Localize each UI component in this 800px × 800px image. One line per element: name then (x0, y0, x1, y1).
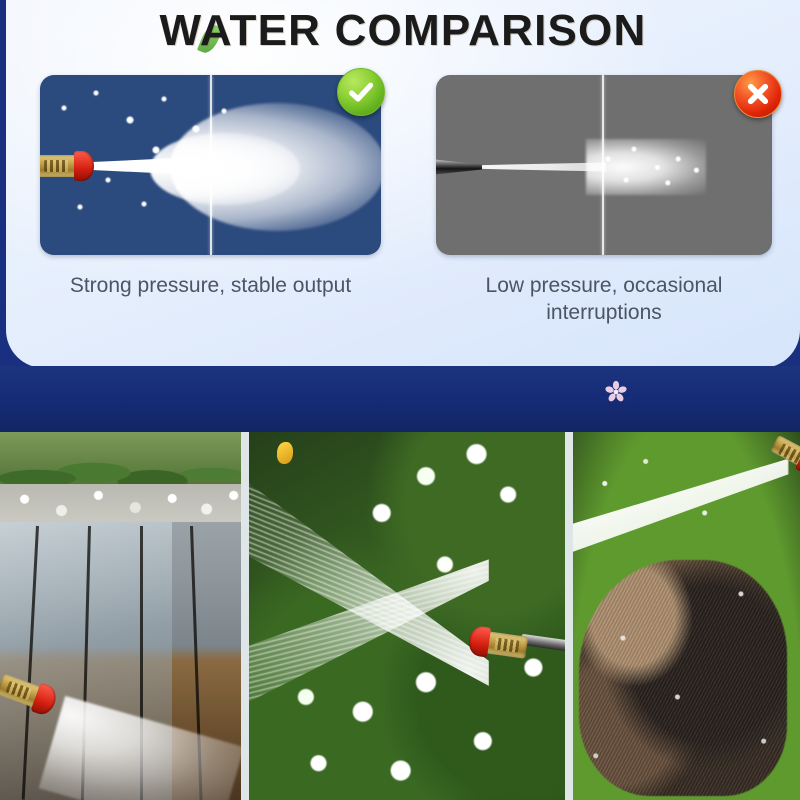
cross-circle-icon (734, 70, 782, 118)
nozzle-icon (40, 151, 102, 181)
cherry-blossom-icon (604, 380, 628, 404)
yellow-bud (277, 442, 293, 464)
nozzle-tip (74, 151, 94, 181)
nozzle-barrel (484, 631, 529, 659)
comparison-card: WATER COMPARISON Strong pressure, stable… (6, 0, 800, 368)
photo-deck-washing (0, 432, 241, 800)
panel-low-pressure (436, 75, 772, 255)
check-circle-icon (337, 68, 385, 116)
gravel-strip (0, 484, 241, 522)
panel-good-pressure (40, 75, 381, 255)
nozzle-barrel (40, 155, 78, 177)
thin-nozzle-icon (436, 159, 482, 175)
water-spray-large (170, 103, 381, 231)
photo-divider (241, 432, 249, 800)
caption-low-pressure: Low pressure, occasional interruptions (430, 272, 778, 326)
photo-garden-watering (249, 432, 565, 800)
photo-dog-washing (573, 432, 800, 800)
weak-water-droplets (582, 131, 712, 201)
photo-divider (565, 432, 573, 800)
divider-band (0, 366, 800, 433)
shrub-background (0, 432, 241, 490)
water-droplets (573, 432, 800, 800)
caption-good-pressure: Strong pressure, stable output (40, 272, 381, 299)
photo-strip (0, 432, 800, 800)
nozzle-tip (467, 625, 491, 657)
page-title: WATER COMPARISON (6, 6, 800, 56)
